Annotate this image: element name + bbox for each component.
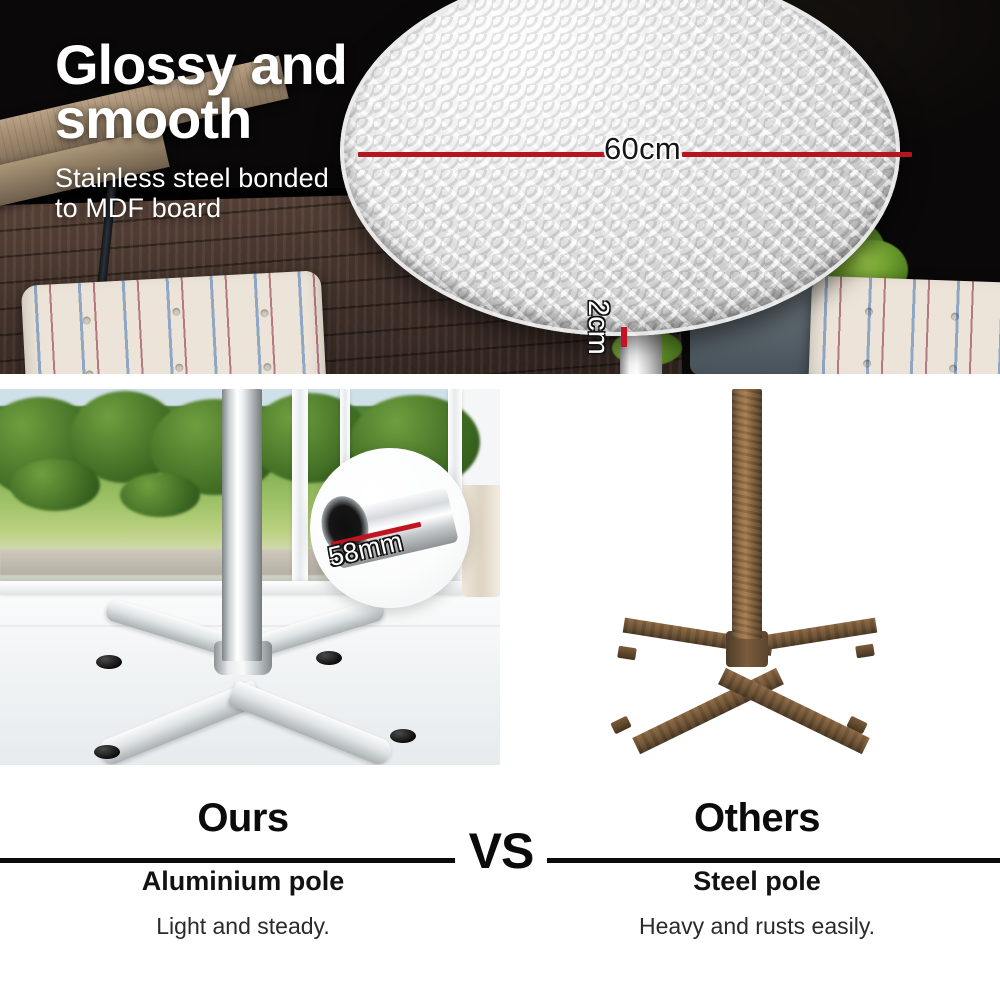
ours-subtitle: Aluminium pole xyxy=(28,866,458,897)
ours-description: Light and steady. xyxy=(28,913,458,940)
base-foot xyxy=(96,655,122,669)
vs-label: VS xyxy=(455,826,547,876)
others-description: Heavy and rusts easily. xyxy=(542,913,972,940)
shrub xyxy=(10,459,100,511)
product-feature-infographic: 60cm 2cm Glossy and smooth Stainless ste… xyxy=(0,0,1000,1000)
base-foot xyxy=(390,729,416,743)
steel-leg xyxy=(718,668,870,754)
thickness-tick xyxy=(621,327,627,347)
comparison-section: Ours Aluminium pole Light and steady. Ot… xyxy=(0,780,1000,1000)
base-foot xyxy=(316,651,342,665)
steel-leg-tip xyxy=(855,644,875,659)
others-title: Others xyxy=(542,780,972,838)
pole-diameter-callout: 58mm xyxy=(310,448,470,608)
steel-leg-tip xyxy=(610,716,631,735)
steel-base-photo xyxy=(500,389,1000,765)
diameter-label: 60cm xyxy=(604,131,681,167)
hero-text-block: Glossy and smooth Stainless steel bonded… xyxy=(55,38,475,224)
headline-line-1: Glossy and xyxy=(55,38,475,92)
diameter-line-right xyxy=(682,152,912,157)
striped-cushion-left xyxy=(21,270,327,374)
base-foot xyxy=(94,745,120,759)
ours-title: Ours xyxy=(28,780,458,838)
shrub xyxy=(120,473,200,517)
subtitle-line-1: Stainless steel bonded xyxy=(55,163,475,194)
subtitle-line-2: to MDF board xyxy=(55,193,475,224)
thickness-label: 2cm xyxy=(581,300,614,355)
aluminium-pole xyxy=(222,389,262,661)
steel-leg-tip xyxy=(617,646,637,661)
steel-pole xyxy=(732,389,762,639)
steel-leg xyxy=(632,668,784,754)
divider-rule-left xyxy=(0,858,455,863)
headline-line-2: smooth xyxy=(55,92,475,146)
window-frame xyxy=(292,389,308,589)
hero-photo-panel: 60cm 2cm Glossy and smooth Stainless ste… xyxy=(0,0,1000,374)
divider-rule-right xyxy=(547,858,1000,863)
others-subtitle: Steel pole xyxy=(542,866,972,897)
